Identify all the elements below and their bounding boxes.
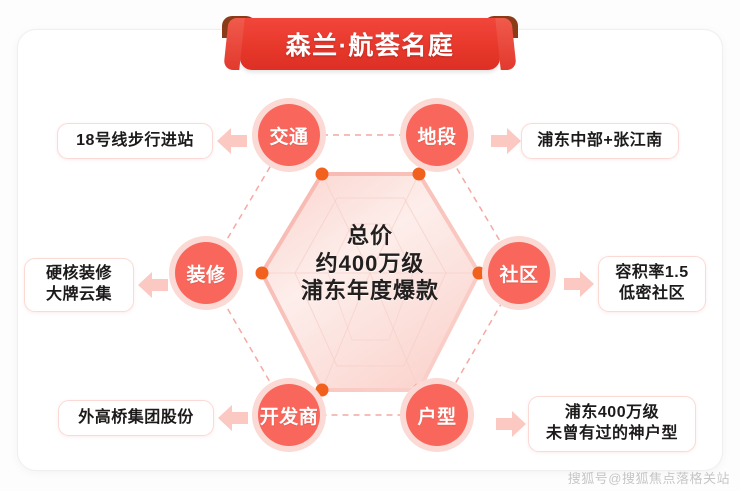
node-developer[interactable]: 开发商 (252, 378, 326, 452)
label-layout-line-2: 未曾有过的神户型 (546, 424, 678, 445)
node-developer-label: 开发商 (258, 384, 320, 446)
arrow-right-location-icon (489, 124, 523, 158)
center-headline: 总价 约400万级 浦东年度爆款 (262, 222, 478, 305)
label-community-line-1: 容积率1.5 (615, 263, 688, 284)
node-community-label: 社区 (488, 242, 550, 304)
node-community[interactable]: 社区 (482, 236, 556, 310)
arrow-right-community-icon (562, 267, 596, 301)
node-decoration-label: 装修 (175, 242, 237, 304)
label-developer-line-1: 外高桥集团股份 (78, 408, 194, 429)
vertex-dot-top-left (316, 168, 329, 181)
arrow-right-layout-icon (494, 407, 528, 441)
arrow-left-transport-icon (215, 124, 249, 158)
label-developer: 外高桥集团股份 (58, 400, 214, 436)
label-transport: 18号线步行进站 (57, 123, 213, 159)
label-community: 容积率1.5 低密社区 (598, 256, 706, 312)
watermark: 搜狐号@搜狐焦点落格关站 (568, 468, 730, 487)
node-transport-label: 交通 (258, 104, 320, 166)
label-decoration: 硬核装修 大牌云集 (24, 258, 134, 312)
label-layout-line-1: 浦东400万级 (565, 403, 659, 424)
arrow-left-decoration-icon (136, 268, 170, 302)
label-decoration-line-1: 硬核装修 (46, 264, 112, 285)
center-line-1: 总价 (262, 222, 478, 250)
label-location-line-1: 浦东中部+张江南 (537, 131, 662, 152)
node-transport[interactable]: 交通 (252, 98, 326, 172)
label-location: 浦东中部+张江南 (521, 123, 679, 159)
node-layout[interactable]: 户型 (400, 378, 474, 452)
center-line-3: 浦东年度爆款 (262, 277, 478, 305)
arrow-left-developer-icon (216, 401, 250, 435)
banner: 森兰·航荟名庭 (222, 8, 518, 70)
label-community-line-2: 低密社区 (619, 284, 685, 305)
label-transport-line-1: 18号线步行进站 (76, 131, 194, 152)
label-layout: 浦东400万级 未曾有过的神户型 (528, 396, 696, 452)
node-decoration[interactable]: 装修 (169, 236, 243, 310)
banner-title: 森兰·航荟名庭 (240, 18, 500, 70)
infographic-canvas: 森兰·航荟名庭 (0, 0, 740, 491)
node-layout-label: 户型 (406, 384, 468, 446)
node-location-label: 地段 (406, 104, 468, 166)
center-line-2: 约400万级 (262, 250, 478, 278)
node-location[interactable]: 地段 (400, 98, 474, 172)
label-decoration-line-2: 大牌云集 (46, 285, 112, 306)
